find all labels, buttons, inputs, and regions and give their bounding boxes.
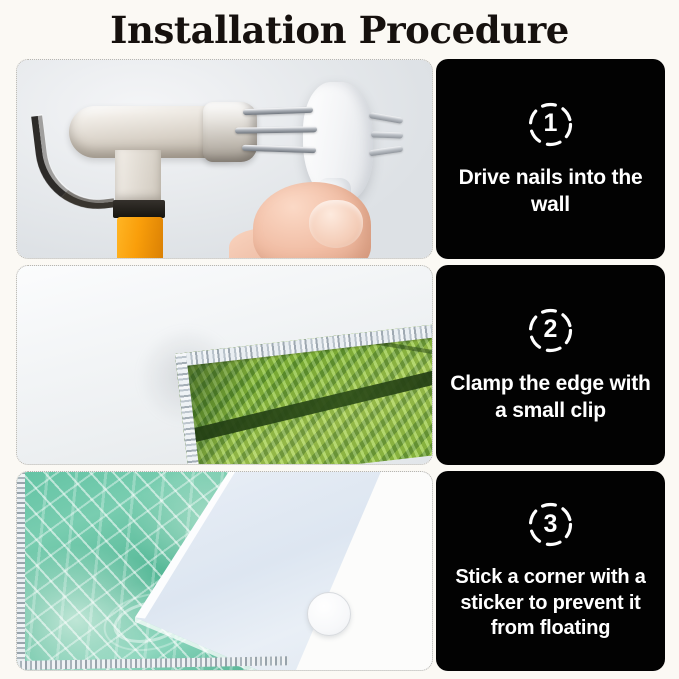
- dashed-circle-icon: 1: [526, 100, 575, 149]
- step-row: 2 Clamp the edge with a small clip: [0, 265, 679, 465]
- step-number: 1: [526, 100, 575, 149]
- photo-stage-2: [17, 266, 432, 464]
- page-title: Installation Procedure: [0, 0, 679, 56]
- step-caption-text: Drive nails into the wall: [450, 165, 651, 219]
- step-caption-text: Clamp the edge with a small clip: [450, 371, 651, 425]
- ring-clip-holding-tapestry-photo: [16, 265, 433, 465]
- step-number: 2: [526, 306, 575, 355]
- steps-container: 1 Drive nails into the wall: [0, 56, 679, 679]
- hook-pin-icon: [369, 146, 404, 157]
- step-caption-panel: 1 Drive nails into the wall: [436, 59, 665, 259]
- hammer-ferrule: [113, 200, 165, 218]
- tree-branch-shape: [175, 356, 432, 447]
- step-row: 3 Stick a corner with a sticker to preve…: [0, 471, 679, 671]
- tapestry-left-edge: [17, 472, 25, 670]
- photo-stage-3: [17, 472, 432, 670]
- hammer-neck: [115, 150, 161, 202]
- hook-pin-icon: [369, 112, 404, 124]
- dashed-circle-icon: 2: [526, 306, 575, 355]
- fingernail-shape: [309, 200, 363, 248]
- hammer-handle-icon: [117, 217, 163, 258]
- adhesive-sticker-icon: [307, 592, 351, 636]
- hook-pin-icon: [371, 131, 403, 138]
- step-number: 3: [526, 500, 575, 549]
- step-caption-panel: 2 Clamp the edge with a small clip: [436, 265, 665, 465]
- hammer-driving-nail-hook-photo: [16, 59, 433, 259]
- step-caption-text: Stick a corner with a sticker to prevent…: [450, 565, 651, 642]
- tapestry-corner-with-sticker-photo: [16, 471, 433, 671]
- photo-stage-1: [17, 60, 432, 258]
- step-row: 1 Drive nails into the wall: [0, 59, 679, 259]
- step-caption-panel: 3 Stick a corner with a sticker to preve…: [436, 471, 665, 671]
- dashed-circle-icon: 3: [526, 500, 575, 549]
- nail-pin-icon: [243, 107, 313, 115]
